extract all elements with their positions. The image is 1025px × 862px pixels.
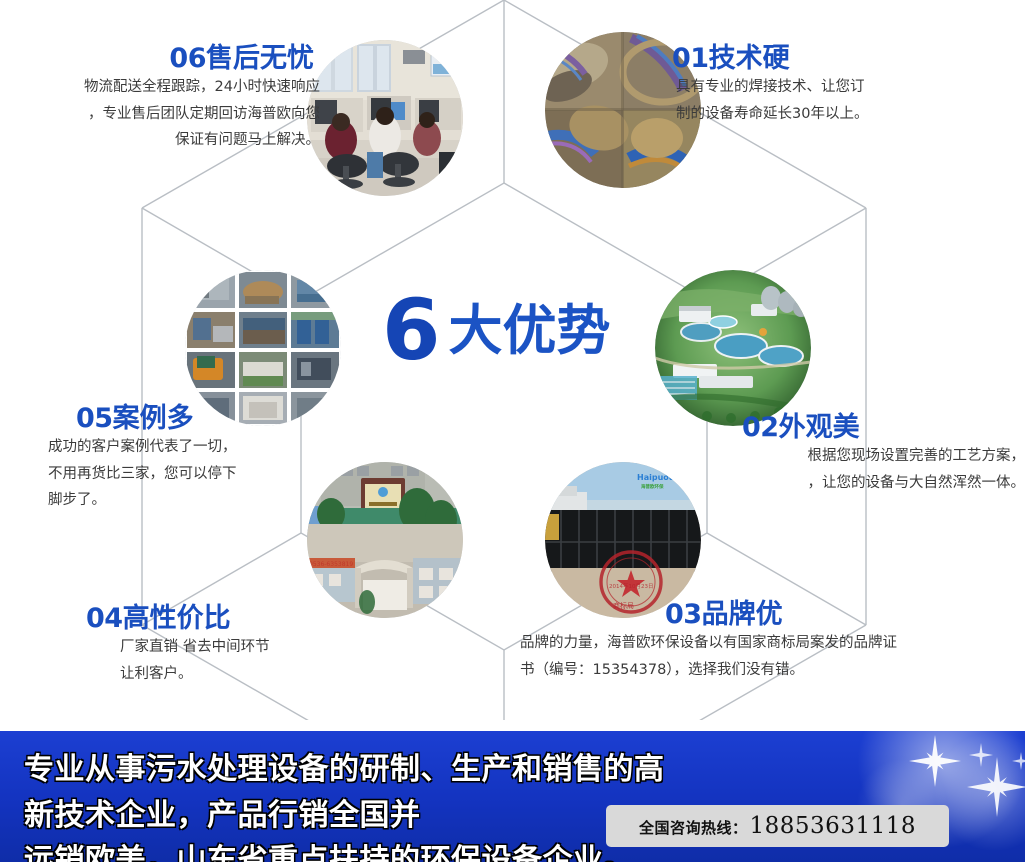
feature-desc-line: 厂家直销 省去中间环节 <box>120 634 402 661</box>
feature-desc-line: 脚步了。 <box>48 487 334 514</box>
svg-text:0536-6353819: 0536-6353819 <box>309 561 353 568</box>
feature-title-01: 01技术硬 <box>672 44 1002 74</box>
feature-desc-line: 制的设备寿命延长30年以上。 <box>676 101 1002 128</box>
feature-desc-line: ，专业售后团队定期回访海普欧向您 <box>20 101 320 128</box>
feature-desc-line: 品牌的力量，海普欧环保设备以有国家商标局案发的品牌证 <box>520 630 1025 657</box>
feature-number-01: 01 <box>672 43 709 74</box>
feature-title-03: 03品牌优 <box>520 600 1025 630</box>
feature-desc-line: 物流配送全程跟踪，24小时快速响应 <box>20 74 320 101</box>
feature-desc-line: 根据您现场设置完善的工艺方案， <box>600 443 1025 470</box>
feature-desc-03: 品牌的力量，海普欧环保设备以有国家商标局案发的品牌证 书（编号：15354378… <box>520 630 1025 684</box>
feature-title-02: 02外观美 <box>600 413 1025 443</box>
feature-desc-04: 厂家直销 省去中间环节 让利客户。 <box>72 634 402 688</box>
feature-block-04: 04高性价比 厂家直销 省去中间环节 让利客户。 <box>72 604 402 687</box>
feature-title-text-01: 技术硬 <box>709 43 790 74</box>
feature-desc-05: 成功的客户案例代表了一切， 不用再货比三家，您可以停下 脚步了。 <box>34 434 334 514</box>
feature-desc-line: 让利客户。 <box>120 661 402 688</box>
feature-title-05: 05案例多 <box>34 404 334 434</box>
feature-number-02: 02 <box>742 412 779 443</box>
feature-desc-line: 保证有问题马上解决。 <box>20 127 320 154</box>
center-headline: 6 大优势 <box>382 286 642 376</box>
hotline-inner: 全国咨询热线： 18853631118 <box>639 813 916 839</box>
feature-desc-06: 物流配送全程跟踪，24小时快速响应 ，专业售后团队定期回访海普欧向您 保证有问题… <box>20 74 320 154</box>
feature-block-01: 01技术硬 具有专业的焊接技术、让您订 制的设备寿命延长30年以上。 <box>672 44 1002 127</box>
center-label-text: 大优势 <box>448 304 610 358</box>
svg-text:2014年10月23日: 2014年10月23日 <box>609 582 654 590</box>
feature-title-06: 06售后无忧 <box>20 44 320 74</box>
feature-title-text-06: 售后无忧 <box>206 43 314 74</box>
feature-number-06: 06 <box>169 43 206 74</box>
feature-desc-line: 不用再货比三家，您可以停下 <box>48 461 334 488</box>
feature-desc-line: 成功的客户案例代表了一切， <box>48 434 334 461</box>
feature-block-02: 02外观美 根据您现场设置完善的工艺方案， ，让您的设备与大自然浑然一体。 <box>600 413 1025 496</box>
feature-number-05: 05 <box>76 403 113 434</box>
feature-block-03: 03品牌优 品牌的力量，海普欧环保设备以有国家商标局案发的品牌证 书（编号：15… <box>520 600 1025 683</box>
center-number: 6 <box>382 292 438 369</box>
feature-desc-line: 具有专业的焊接技术、让您订 <box>676 74 1002 101</box>
feature-desc-line: 书（编号：15354378），选择我们没有错。 <box>520 657 1025 684</box>
feature-title-04: 04高性价比 <box>72 604 402 634</box>
banner-line-1: 专业从事污水处理设备的研制、生产和销售的高新技术企业，产品行销全国并 <box>24 747 684 838</box>
hotline-number: 18853631118 <box>750 813 916 839</box>
feature-title-text-03: 品牌优 <box>702 599 783 630</box>
feature-block-05: 05案例多 成功的客户案例代表了一切， 不用再货比三家，您可以停下 脚步了。 <box>34 404 334 514</box>
banner-line-2: 远销欧美，山东省重点扶持的环保设备企业。 <box>24 838 684 862</box>
photo-circle-02-plant <box>655 270 811 426</box>
feature-title-text-05: 案例多 <box>113 403 194 434</box>
banner-headline: 专业从事污水处理设备的研制、生产和销售的高新技术企业，产品行销全国并 远销欧美，… <box>24 747 684 862</box>
feature-desc-line: ，让您的设备与大自然浑然一体。 <box>600 470 1025 497</box>
feature-desc-01: 具有专业的焊接技术、让您订 制的设备寿命延长30年以上。 <box>672 74 1002 128</box>
infographic-page: 6 大优势 <box>0 0 1025 862</box>
photo-circle-06-office <box>307 40 463 196</box>
hotline-box[interactable]: 全国咨询热线： 18853631118 <box>606 805 949 847</box>
feature-number-04: 04 <box>86 603 123 634</box>
feature-number-03: 03 <box>665 599 702 630</box>
feature-title-text-02: 外观美 <box>779 412 860 443</box>
feature-title-text-04: 高性价比 <box>123 603 231 634</box>
photo-circle-05-cases <box>185 270 341 426</box>
feature-desc-02: 根据您现场设置完善的工艺方案， ，让您的设备与大自然浑然一体。 <box>600 443 1025 497</box>
feature-block-06: 06售后无忧 物流配送全程跟踪，24小时快速响应 ，专业售后团队定期回访海普欧向… <box>20 44 320 154</box>
hotline-label: 全国咨询热线： <box>639 817 748 838</box>
